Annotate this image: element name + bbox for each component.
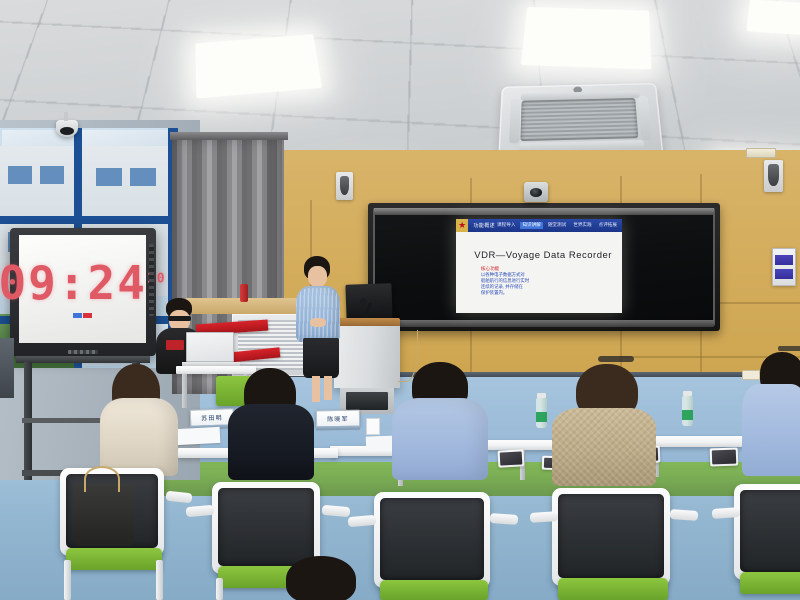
chair-back[interactable] xyxy=(374,492,490,588)
presenter-hands xyxy=(310,318,326,327)
tablet-device[interactable] xyxy=(710,448,739,467)
chair-arm xyxy=(670,509,699,521)
slide-tabs[interactable]: 课程导入 知识讲解 随堂测试 世界实践 点评拓展 xyxy=(495,222,622,229)
presenter-head xyxy=(308,266,327,287)
ac-vane xyxy=(509,99,521,143)
display-side-bracket xyxy=(0,338,14,398)
presenter-leg xyxy=(312,376,320,402)
display-stand-bar xyxy=(16,356,150,363)
shirt-stripes xyxy=(296,288,340,342)
ac-grille xyxy=(520,98,638,141)
chair-back[interactable] xyxy=(552,488,670,586)
attendee-torso xyxy=(100,398,178,476)
slide-nav-title: 功能概述 xyxy=(468,222,495,229)
attendee-torso xyxy=(392,398,488,480)
nameplate-text: 陈晓军 xyxy=(327,414,349,423)
side-counter-top xyxy=(186,298,314,314)
slide-body-line: 船舶航行的信息进行实时 xyxy=(481,278,529,284)
glasses-icon xyxy=(168,316,191,321)
chair-leg xyxy=(64,560,71,600)
classroom-photo: ★ 功能概述 课程导入 知识讲解 随堂测试 世界实践 点评拓展 VDR—Voya… xyxy=(0,0,800,600)
water-bottle xyxy=(682,396,693,426)
handbag xyxy=(74,484,134,546)
slide-tab-3[interactable]: 世界实践 xyxy=(571,222,593,229)
display-side-buttons[interactable] xyxy=(149,244,154,316)
wall-plate xyxy=(746,148,776,158)
tweed-texture xyxy=(552,408,656,486)
paper-cup xyxy=(366,418,380,435)
chair-back[interactable] xyxy=(734,484,800,580)
clock-time-value: 09:2410 xyxy=(0,260,167,306)
tablet-device[interactable] xyxy=(498,449,525,467)
nameplate-base xyxy=(316,426,360,431)
chair-arm xyxy=(712,507,741,519)
glasses-icon xyxy=(778,346,800,351)
glasses-icon xyxy=(598,356,634,362)
presenter-leg xyxy=(324,376,332,400)
dome-camera-icon xyxy=(56,120,78,137)
slide-title: VDR—Voyage Data Recorder xyxy=(474,250,612,261)
slide-body: 核心功能 以各种电子数据方式对 船舶航行的信息进行实时 连续的记录, 并存储在 … xyxy=(481,266,529,295)
laptop-screen[interactable] xyxy=(186,332,234,362)
ceiling-light-panel xyxy=(195,34,322,98)
slide-tab-4[interactable]: 点评拓展 xyxy=(597,222,619,229)
podium-body[interactable] xyxy=(334,326,400,388)
slide-tab-0[interactable]: 课程导入 xyxy=(495,222,517,229)
wall-speaker-icon xyxy=(336,172,353,200)
ceiling-light-panel xyxy=(746,0,800,35)
ac-vane xyxy=(638,96,652,140)
drink-bottle xyxy=(240,284,248,302)
chair-arm xyxy=(490,513,519,525)
notepaper xyxy=(176,427,221,445)
projection-screen[interactable]: ★ 功能概述 课程导入 知识讲解 随堂测试 世界实践 点评拓展 VDR—Voya… xyxy=(456,219,622,313)
chair-seat[interactable] xyxy=(380,580,488,600)
wall-speaker-icon xyxy=(764,160,783,192)
chair-seat[interactable] xyxy=(558,578,668,600)
nameplate-text: 苏田明 xyxy=(201,413,223,423)
slide-tab-2[interactable]: 随堂测试 xyxy=(546,222,568,229)
foreground-head xyxy=(286,556,356,600)
slide-body-line: 保护装置内。 xyxy=(481,290,529,296)
bottle-cap xyxy=(537,393,546,398)
clock-badge xyxy=(73,313,92,318)
display-brand-logo xyxy=(68,350,98,354)
attendee-torso xyxy=(742,384,800,476)
chair-seat[interactable] xyxy=(740,572,800,594)
side-table xyxy=(176,366,256,374)
wall-outlet xyxy=(742,370,760,380)
chair-leg xyxy=(216,578,223,600)
nameplate: 陈晓军 xyxy=(316,410,360,428)
chair-arm xyxy=(530,511,559,523)
chair-leg xyxy=(156,560,163,600)
clock-screen: 09:2410 xyxy=(19,235,146,343)
ceiling-light-panel xyxy=(521,7,652,69)
microphone-head xyxy=(360,298,367,305)
slide-nav-bar: ★ 功能概述 课程导入 知识讲解 随堂测试 世界实践 点评拓展 xyxy=(456,219,622,232)
star-icon: ★ xyxy=(456,219,468,232)
podium-equipment-bay xyxy=(346,392,388,410)
water-bottle xyxy=(536,398,547,428)
presenter-skirt xyxy=(303,338,339,378)
table-leg xyxy=(182,374,187,408)
bottle-cap xyxy=(683,391,692,396)
handbag-strap xyxy=(84,466,120,492)
camera-mount xyxy=(64,112,68,121)
ptz-camera-icon xyxy=(524,182,548,202)
tshirt-print xyxy=(166,340,184,350)
window-mullion xyxy=(0,216,178,224)
slide-tab-1[interactable]: 知识讲解 xyxy=(520,222,542,229)
chair-seat[interactable] xyxy=(66,548,162,570)
notice-board xyxy=(772,248,796,286)
interactive-display[interactable]: 09:2410 xyxy=(10,228,156,356)
attendee-torso xyxy=(228,404,314,480)
slide-body-line: 连续的记录, 并存储在 xyxy=(481,284,529,290)
curtain-rail xyxy=(170,132,288,140)
